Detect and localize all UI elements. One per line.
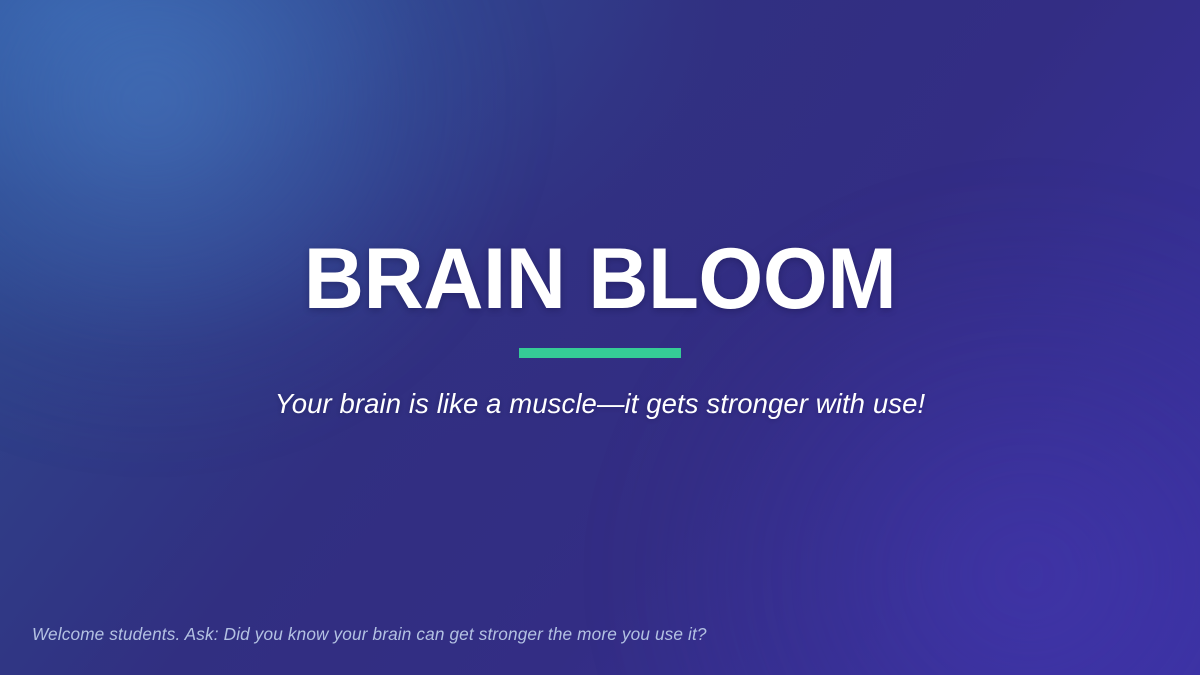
slide-subtitle: Your brain is like a muscle—it gets stro… <box>0 388 1200 420</box>
title-slide: BRAIN BLOOM Your brain is like a muscle—… <box>0 0 1200 675</box>
slide-title: BRAIN BLOOM <box>18 236 1182 322</box>
speaker-note: Welcome students. Ask: Did you know your… <box>32 624 707 645</box>
slide-center-block: BRAIN BLOOM Your brain is like a muscle—… <box>0 236 1200 420</box>
accent-divider-bar <box>519 348 681 358</box>
